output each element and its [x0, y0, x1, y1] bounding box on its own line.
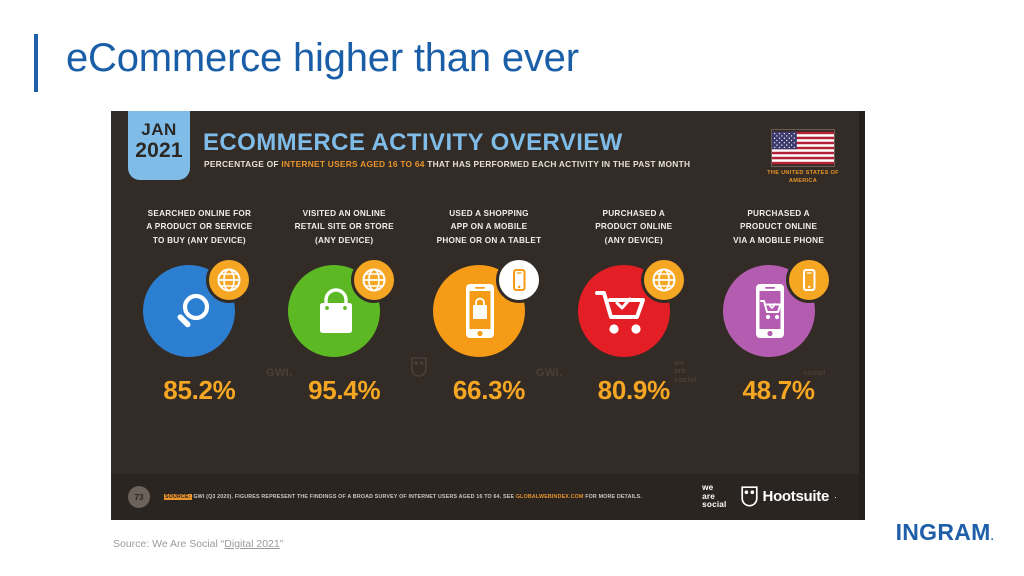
globe-badge-icon	[206, 257, 252, 303]
infographic-panel: JAN 2021 ECOMMERCE ACTIVITY OVERVIEW PER…	[111, 111, 865, 520]
activity-icon-area	[140, 257, 258, 361]
activity-icon-area	[430, 257, 548, 361]
globe-badge-icon	[351, 257, 397, 303]
shopping-bag-icon	[312, 287, 360, 337]
globe-icon	[216, 267, 242, 293]
activity-icon-area	[720, 257, 838, 361]
source-note: SOURCE: GWI (Q3 2020). FIGURES REPRESENT…	[164, 494, 642, 500]
label-line: VISITED AN ONLINE	[295, 207, 394, 220]
globe-badge-icon	[641, 257, 687, 303]
source-link[interactable]: GLOBALWEBINDEX.COM	[516, 494, 584, 500]
source-hyperlink[interactable]: Digital 2021	[224, 538, 279, 550]
us-flag-icon	[771, 129, 835, 167]
subtitle-part-1: PERCENTAGE OF	[204, 159, 281, 169]
page-number-badge: 73	[128, 486, 150, 508]
logo-line-3: social	[702, 501, 726, 510]
subtitle-part-2: THAT HAS PERFORMED EACH ACTIVITY IN THE …	[425, 159, 691, 169]
label-line: SEARCHED ONLINE FOR	[146, 207, 252, 220]
mobile-cart-icon	[750, 282, 790, 342]
label-line: USED A SHOPPING	[437, 207, 542, 220]
footer-logos: we are social Hootsuite ·	[702, 484, 837, 511]
label-line: PRODUCT ONLINE	[595, 220, 672, 233]
infographic-footer: 73 SOURCE: GWI (Q3 2020). FIGURES REPRES…	[111, 474, 859, 520]
panel-right-edge	[859, 111, 865, 520]
label-line: VIA A MOBILE PHONE	[733, 234, 824, 247]
label-line: (ANY DEVICE)	[595, 234, 672, 247]
country-caption-line-1: THE UNITED STATES OF	[763, 170, 843, 178]
mobile-badge-icon	[496, 257, 542, 303]
label-line: PHONE OR ON A TABLET	[437, 234, 542, 247]
subtitle-highlight: INTERNET USERS AGED 16 TO 64	[281, 159, 424, 169]
country-caption: THE UNITED STATES OF AMERICA	[763, 170, 843, 186]
ingram-mark: .	[991, 531, 994, 543]
activity-column-purchased-any-device: PURCHASED A PRODUCT ONLINE (ANY DEVICE)	[561, 207, 706, 406]
infographic-title: ECOMMERCE ACTIVITY OVERVIEW	[203, 129, 623, 157]
activity-column-visited-retail: VISITED AN ONLINE RETAIL SITE OR STORE (…	[272, 207, 417, 406]
we-are-social-logo: we are social	[702, 484, 726, 511]
title-accent-bar	[34, 34, 38, 92]
label-line: (ANY DEVICE)	[295, 234, 394, 247]
activity-column-searched-online: SEARCHED ONLINE FOR A PRODUCT OR SERVICE…	[127, 207, 272, 406]
date-tab: JAN 2021	[128, 111, 190, 180]
activity-value: 66.3%	[453, 375, 525, 406]
activity-label: SEARCHED ONLINE FOR A PRODUCT OR SERVICE…	[146, 207, 252, 251]
label-line: PRODUCT ONLINE	[733, 220, 824, 233]
activity-label: USED A SHOPPING APP ON A MOBILE PHONE OR…	[437, 207, 542, 251]
magnifier-icon	[170, 290, 216, 336]
globe-icon	[651, 267, 677, 293]
activity-column-shopping-app: USED A SHOPPING APP ON A MOBILE PHONE OR…	[417, 207, 562, 406]
activity-label: PURCHASED A PRODUCT ONLINE (ANY DEVICE)	[595, 207, 672, 251]
activity-icon-area	[285, 257, 403, 361]
date-tab-year: 2021	[135, 139, 183, 163]
hootsuite-trademark: ·	[834, 492, 837, 502]
ingram-wordmark: INGRAM	[896, 519, 991, 545]
mobile-phone-icon	[796, 267, 822, 293]
activity-label: PURCHASED A PRODUCT ONLINE VIA A MOBILE …	[733, 207, 824, 251]
label-line: PURCHASED A	[595, 207, 672, 220]
activity-value: 95.4%	[308, 375, 380, 406]
ingram-logo: INGRAM.	[896, 519, 994, 546]
activity-value: 80.9%	[598, 375, 670, 406]
owl-icon	[741, 486, 758, 507]
label-line: APP ON A MOBILE	[437, 220, 542, 233]
country-block: THE UNITED STATES OF AMERICA	[763, 129, 843, 186]
source-quote-close: ”	[280, 538, 284, 550]
source-prefix: Source: We Are Social	[113, 538, 221, 550]
activity-columns: SEARCHED ONLINE FOR A PRODUCT OR SERVICE…	[127, 207, 851, 406]
activity-column-purchased-mobile: PURCHASED A PRODUCT ONLINE VIA A MOBILE …	[706, 207, 851, 406]
mobile-badge-icon	[786, 257, 832, 303]
source-text-1: GWI (Q3 2020). FIGURES REPRESENT THE FIN…	[192, 494, 516, 500]
date-tab-month: JAN	[141, 120, 177, 139]
activity-icon-area	[575, 257, 693, 361]
source-tag: SOURCE:	[164, 494, 192, 500]
mobile-phone-icon	[506, 267, 532, 293]
activity-value: 48.7%	[742, 375, 814, 406]
hootsuite-logo: Hootsuite ·	[741, 486, 837, 507]
infographic-subtitle: PERCENTAGE OF INTERNET USERS AGED 16 TO …	[204, 159, 690, 169]
source-text-2: FOR MORE DETAILS.	[584, 494, 642, 500]
activity-value: 85.2%	[163, 375, 235, 406]
label-line: PURCHASED A	[733, 207, 824, 220]
shopping-cart-icon	[595, 289, 653, 337]
activity-label: VISITED AN ONLINE RETAIL SITE OR STORE (…	[295, 207, 394, 251]
hootsuite-name: Hootsuite	[763, 488, 829, 505]
country-caption-line-2: AMERICA	[763, 178, 843, 186]
mobile-bag-icon	[460, 282, 500, 342]
label-line: A PRODUCT OR SERVICE	[146, 220, 252, 233]
slide-source-note: Source: We Are Social “Digital 2021”	[113, 538, 283, 550]
label-line: TO BUY (ANY DEVICE)	[146, 234, 252, 247]
globe-icon	[361, 267, 387, 293]
page-title: eCommerce higher than ever	[66, 36, 579, 81]
label-line: RETAIL SITE OR STORE	[295, 220, 394, 233]
